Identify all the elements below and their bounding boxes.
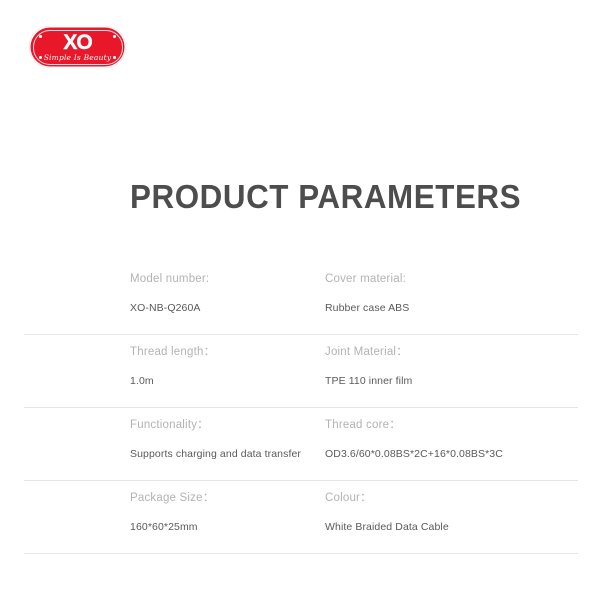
spec-cell-model-number: Model number: XO-NB-Q260A — [24, 262, 301, 334]
table-row: Functionality： Supports charging and dat… — [24, 408, 578, 481]
spec-value: Rubber case ABS — [325, 301, 578, 316]
spec-label: Thread core： — [325, 417, 578, 433]
spec-cell-colour: Colour： White Braided Data Cable — [301, 481, 578, 553]
table-row: Model number: XO-NB-Q260A Cover material… — [24, 262, 578, 335]
spec-label: Model number: — [130, 271, 301, 287]
logo-wordmark: XO — [29, 32, 126, 53]
spec-cell-joint-material: Joint Material： TPE 110 inner film — [301, 335, 578, 407]
spec-cell-functionality: Functionality： Supports charging and dat… — [24, 408, 301, 480]
product-parameters-page: XO Simple Is Beauty PRODUCT PARAMETERS M… — [0, 0, 600, 600]
brand-logo: XO Simple Is Beauty — [29, 26, 126, 68]
spec-cell-cover-material: Cover material: Rubber case ABS — [301, 262, 578, 334]
spec-value: White Braided Data Cable — [325, 520, 578, 535]
spec-value: 160*60*25mm — [130, 520, 301, 535]
spec-value: TPE 110 inner film — [325, 374, 578, 389]
table-row: Thread length： 1.0m Joint Material： TPE … — [24, 335, 578, 408]
spec-label: Thread length： — [130, 344, 301, 360]
spec-value: Supports charging and data transfer — [130, 447, 301, 462]
spec-label: Functionality： — [130, 417, 301, 433]
spec-value: 1.0m — [130, 374, 301, 389]
spec-value: OD3.6/60*0.08BS*2C+16*0.08BS*3C — [325, 447, 578, 462]
table-row: Package Size： 160*60*25mm Colour： White … — [24, 481, 578, 554]
spec-cell-thread-length: Thread length： 1.0m — [24, 335, 301, 407]
spec-cell-package-size: Package Size： 160*60*25mm — [24, 481, 301, 553]
spec-value: XO-NB-Q260A — [130, 301, 301, 316]
spec-label: Colour： — [325, 490, 578, 506]
page-title: PRODUCT PARAMETERS — [130, 178, 521, 216]
spec-label: Cover material: — [325, 271, 578, 287]
spec-cell-thread-core: Thread core： OD3.6/60*0.08BS*2C+16*0.08B… — [301, 408, 578, 480]
logo-badge-shape: XO Simple Is Beauty — [29, 26, 126, 68]
logo-tagline: Simple Is Beauty — [29, 53, 126, 62]
spec-table: Model number: XO-NB-Q260A Cover material… — [24, 262, 578, 554]
spec-label: Joint Material： — [325, 344, 578, 360]
spec-label: Package Size： — [130, 490, 301, 506]
